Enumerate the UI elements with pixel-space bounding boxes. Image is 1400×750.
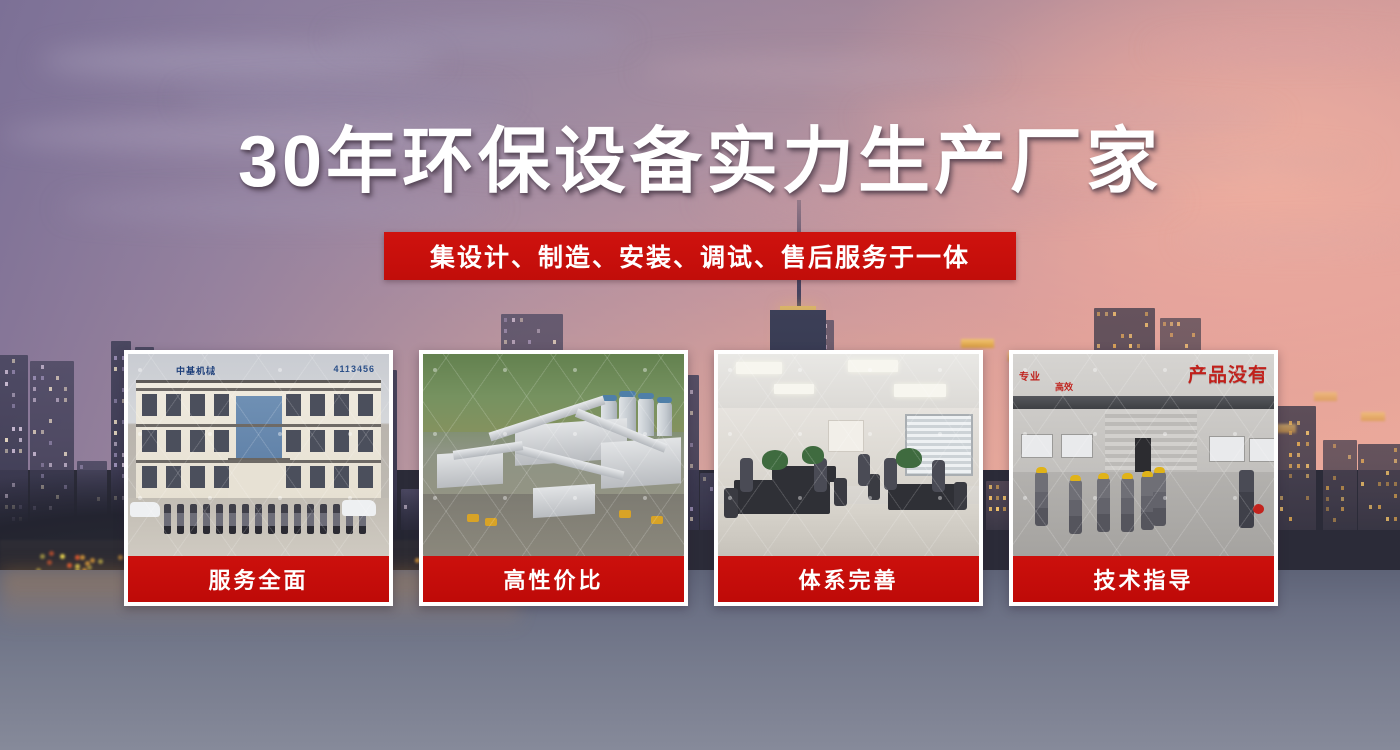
tower-crown-glow bbox=[1314, 392, 1337, 401]
building-window bbox=[1097, 344, 1100, 348]
building-window bbox=[520, 318, 523, 322]
building-window bbox=[1105, 312, 1108, 316]
building-window bbox=[1333, 444, 1336, 448]
building-window bbox=[49, 387, 52, 391]
building-window bbox=[1145, 323, 1148, 327]
building-window bbox=[553, 340, 556, 344]
building-window bbox=[1289, 464, 1292, 468]
staff-person bbox=[333, 504, 340, 534]
building-window bbox=[1097, 312, 1100, 316]
building-floor-divider bbox=[136, 424, 381, 427]
building-window bbox=[1297, 464, 1300, 468]
building-window bbox=[19, 427, 22, 431]
building-window bbox=[537, 329, 540, 333]
building-window bbox=[1306, 474, 1309, 478]
storage-silo bbox=[657, 402, 672, 436]
office-window bbox=[358, 430, 373, 452]
office-window bbox=[142, 430, 157, 452]
building-window bbox=[1129, 334, 1132, 338]
office-window bbox=[190, 466, 205, 488]
building-window bbox=[1297, 442, 1300, 446]
page-title: 30年环保设备实力生产厂家 bbox=[0, 126, 1400, 198]
shore-light bbox=[90, 558, 95, 563]
plant-building bbox=[601, 437, 681, 489]
building-window bbox=[1341, 486, 1344, 490]
ceiling-light-panel bbox=[774, 384, 814, 394]
building-window bbox=[64, 398, 67, 402]
factory-window bbox=[1061, 434, 1093, 458]
building-window bbox=[1333, 476, 1336, 480]
building-window bbox=[1394, 482, 1397, 486]
building-window bbox=[1326, 507, 1329, 511]
building-window bbox=[1361, 459, 1364, 463]
building-window bbox=[512, 318, 515, 322]
building-window bbox=[12, 404, 15, 408]
building-window bbox=[1394, 494, 1397, 498]
feature-card[interactable]: 体系完善 bbox=[714, 350, 983, 606]
card-photo-industrial-plant bbox=[423, 354, 684, 556]
building-window bbox=[12, 449, 15, 453]
building-window bbox=[1297, 421, 1300, 425]
building-window bbox=[1386, 517, 1389, 521]
building-window bbox=[1113, 312, 1116, 316]
construction-vehicle bbox=[651, 516, 663, 524]
building-window bbox=[1121, 334, 1124, 338]
office-window bbox=[358, 466, 373, 488]
building-window bbox=[1306, 496, 1309, 500]
factory-window bbox=[1209, 436, 1245, 462]
shore-light bbox=[85, 561, 90, 566]
promo-banner: 30年环保设备实力生产厂家 集设计、制造、安装、调试、售后服务于一体 中基机械 … bbox=[0, 0, 1400, 750]
storage-silo bbox=[638, 398, 654, 436]
silo-cap bbox=[638, 393, 654, 399]
office-worker bbox=[740, 458, 753, 492]
card-label: 技术指导 bbox=[1013, 556, 1274, 602]
staff-person bbox=[268, 504, 275, 534]
factory-wall-slogan-left: 专业 bbox=[1019, 368, 1041, 383]
plant-building bbox=[533, 484, 595, 518]
building-window bbox=[12, 370, 15, 374]
office-window bbox=[334, 466, 349, 488]
building-window bbox=[1333, 518, 1336, 522]
card-label: 高性价比 bbox=[423, 556, 684, 602]
building-window bbox=[114, 442, 117, 446]
building-window bbox=[1137, 344, 1140, 348]
building-window bbox=[1394, 448, 1397, 452]
building-window bbox=[1306, 464, 1309, 468]
office-window bbox=[286, 466, 301, 488]
building-window bbox=[1386, 482, 1389, 486]
building-signage: 中基机械 bbox=[176, 364, 216, 377]
office-window bbox=[190, 430, 205, 452]
ceiling-light-panel bbox=[848, 360, 898, 372]
building-window bbox=[114, 356, 117, 360]
staff-person bbox=[164, 504, 171, 534]
building-window bbox=[528, 340, 531, 344]
shore-light bbox=[75, 564, 80, 569]
building-window bbox=[5, 438, 8, 442]
building-window bbox=[1326, 497, 1329, 501]
building-window bbox=[114, 420, 117, 424]
building-window bbox=[5, 449, 8, 453]
hard-hat-icon bbox=[1098, 473, 1109, 479]
hard-hat-icon bbox=[1070, 475, 1081, 481]
parked-car bbox=[342, 500, 376, 516]
building-window bbox=[33, 398, 36, 402]
building bbox=[1358, 444, 1400, 530]
building-window bbox=[1170, 333, 1173, 337]
silo-cap bbox=[619, 391, 636, 397]
hard-hat-icon bbox=[1036, 467, 1047, 473]
building-window bbox=[64, 452, 67, 456]
shore-light bbox=[98, 559, 103, 564]
building-window bbox=[1192, 333, 1195, 337]
staff-person bbox=[320, 504, 327, 534]
office-window bbox=[334, 430, 349, 452]
factory-worker bbox=[1121, 478, 1134, 532]
building-window bbox=[504, 329, 507, 333]
building-window bbox=[1170, 322, 1173, 326]
tower-crown-glow bbox=[961, 339, 994, 348]
potted-plant bbox=[802, 446, 824, 464]
building-window bbox=[56, 398, 59, 402]
building-window bbox=[1348, 455, 1351, 459]
building-window bbox=[33, 430, 36, 434]
building-window bbox=[1394, 517, 1397, 521]
red-helmet-icon bbox=[1253, 504, 1264, 514]
building-window bbox=[41, 376, 44, 380]
silo-cap bbox=[657, 397, 672, 403]
building-window bbox=[41, 365, 44, 369]
building-window bbox=[1113, 344, 1116, 348]
building-window bbox=[504, 318, 507, 322]
card-photo-factory-workers: 产品没有 专业 高效 bbox=[1013, 354, 1274, 556]
card-photo-company-building: 中基机械 4113456 bbox=[128, 354, 389, 556]
building-window bbox=[114, 367, 117, 371]
office-window bbox=[190, 394, 205, 416]
office-window bbox=[310, 430, 325, 452]
building-window bbox=[1369, 505, 1372, 509]
building-window bbox=[64, 387, 67, 391]
staff-person bbox=[281, 504, 288, 534]
office-window bbox=[358, 394, 373, 416]
shore-light bbox=[67, 563, 72, 568]
building-window bbox=[1361, 482, 1364, 486]
building-window bbox=[1378, 505, 1381, 509]
office-window bbox=[214, 430, 229, 452]
office-window bbox=[142, 466, 157, 488]
office-chair bbox=[954, 482, 967, 510]
shore-light bbox=[118, 555, 123, 560]
office-window bbox=[286, 430, 301, 452]
building-window bbox=[1341, 507, 1344, 511]
office-worker bbox=[858, 454, 870, 486]
subtitle-banner: 集设计、制造、安装、调试、售后服务于一体 bbox=[384, 232, 1016, 280]
staff-person bbox=[203, 504, 210, 534]
building-window bbox=[1280, 507, 1283, 511]
building-window bbox=[5, 382, 8, 386]
building-window bbox=[1289, 517, 1292, 521]
staff-person bbox=[216, 504, 223, 534]
hard-hat-icon bbox=[1142, 471, 1153, 477]
building-window bbox=[114, 453, 117, 457]
ceiling-light-panel bbox=[736, 362, 782, 374]
shore-light bbox=[80, 555, 85, 560]
office-chair bbox=[834, 478, 847, 506]
card-label: 体系完善 bbox=[718, 556, 979, 602]
building-window bbox=[49, 441, 52, 445]
office-worker bbox=[932, 460, 945, 492]
factory-worker bbox=[1097, 478, 1110, 532]
building-window bbox=[1129, 344, 1132, 348]
building-window bbox=[33, 452, 36, 456]
construction-vehicle bbox=[619, 510, 631, 518]
factory-wall-slogan-mid: 高效 bbox=[1055, 380, 1073, 393]
card-label: 服务全面 bbox=[128, 556, 389, 602]
building-window bbox=[41, 430, 44, 434]
building-window bbox=[1378, 482, 1381, 486]
building-window bbox=[504, 340, 507, 344]
office-window bbox=[166, 466, 181, 488]
potted-plant bbox=[896, 448, 922, 468]
building-window bbox=[1280, 496, 1283, 500]
building-window bbox=[5, 370, 8, 374]
feature-card-list: 中基机械 4113456 服务全面 高性价比 bbox=[124, 350, 1278, 608]
building-window bbox=[114, 431, 117, 435]
building-window bbox=[1289, 453, 1292, 457]
potted-plant bbox=[762, 450, 788, 470]
building-floor-divider bbox=[136, 460, 381, 463]
card-photo-office-interior bbox=[718, 354, 979, 556]
building-window bbox=[1341, 497, 1344, 501]
office-window bbox=[310, 466, 325, 488]
building-window bbox=[1386, 471, 1389, 475]
construction-vehicle bbox=[485, 518, 497, 526]
building-window bbox=[1326, 486, 1329, 490]
office-window bbox=[286, 394, 301, 416]
building-window bbox=[33, 387, 36, 391]
building-window bbox=[33, 376, 36, 380]
factory-window bbox=[1021, 434, 1053, 458]
factory-window bbox=[1249, 438, 1274, 462]
office-window bbox=[214, 466, 229, 488]
building-window bbox=[1297, 453, 1300, 457]
building-floor-divider bbox=[136, 388, 381, 391]
factory-wall-slogan: 产品没有 bbox=[1188, 360, 1268, 387]
office-window bbox=[166, 394, 181, 416]
building-window bbox=[512, 340, 515, 344]
office-chair bbox=[724, 488, 738, 518]
building-window bbox=[56, 376, 59, 380]
building-window bbox=[1394, 459, 1397, 463]
building-window bbox=[114, 399, 117, 403]
shore-light bbox=[49, 551, 54, 556]
factory-worker bbox=[1035, 472, 1048, 526]
factory-worker bbox=[1069, 480, 1082, 534]
feature-card[interactable]: 产品没有 专业 高效 技术指导 bbox=[1009, 350, 1278, 606]
hard-hat-icon bbox=[1154, 467, 1165, 473]
shore-light bbox=[60, 554, 65, 559]
feature-card[interactable]: 高性价比 bbox=[419, 350, 688, 606]
tower-crown-glow bbox=[1361, 412, 1385, 421]
building-window bbox=[1306, 431, 1309, 435]
building-window bbox=[19, 449, 22, 453]
building-window bbox=[1145, 312, 1148, 316]
building-window bbox=[1289, 474, 1292, 478]
building-window bbox=[12, 427, 15, 431]
office-window bbox=[166, 430, 181, 452]
parked-car bbox=[130, 502, 160, 517]
ceiling-light-panel bbox=[894, 384, 946, 397]
building-window bbox=[1185, 344, 1188, 348]
staff-person bbox=[190, 504, 197, 534]
building-window bbox=[12, 359, 15, 363]
shore-light bbox=[40, 554, 45, 559]
staff-person bbox=[229, 504, 236, 534]
factory-worker bbox=[1153, 472, 1166, 526]
construction-vehicle bbox=[467, 514, 479, 522]
office-desk bbox=[888, 484, 962, 510]
office-window bbox=[214, 394, 229, 416]
building-window bbox=[1163, 322, 1166, 326]
staff-person bbox=[177, 504, 184, 534]
building-window bbox=[19, 438, 22, 442]
supervisor bbox=[1239, 470, 1254, 528]
staff-person bbox=[307, 504, 314, 534]
office-worker bbox=[884, 458, 897, 490]
shore-light bbox=[47, 560, 52, 565]
office-window bbox=[142, 394, 157, 416]
staff-person bbox=[255, 504, 262, 534]
feature-card[interactable]: 中基机械 4113456 服务全面 bbox=[124, 350, 393, 606]
office-window bbox=[310, 394, 325, 416]
building-window bbox=[1306, 442, 1309, 446]
hard-hat-icon bbox=[1122, 473, 1133, 479]
building-phone-number: 4113456 bbox=[333, 364, 375, 374]
office-window bbox=[334, 394, 349, 416]
building-window bbox=[12, 393, 15, 397]
staff-person bbox=[294, 504, 301, 534]
building bbox=[1323, 440, 1357, 530]
staff-person bbox=[242, 504, 249, 534]
building-window bbox=[49, 419, 52, 423]
building-window bbox=[1177, 322, 1180, 326]
